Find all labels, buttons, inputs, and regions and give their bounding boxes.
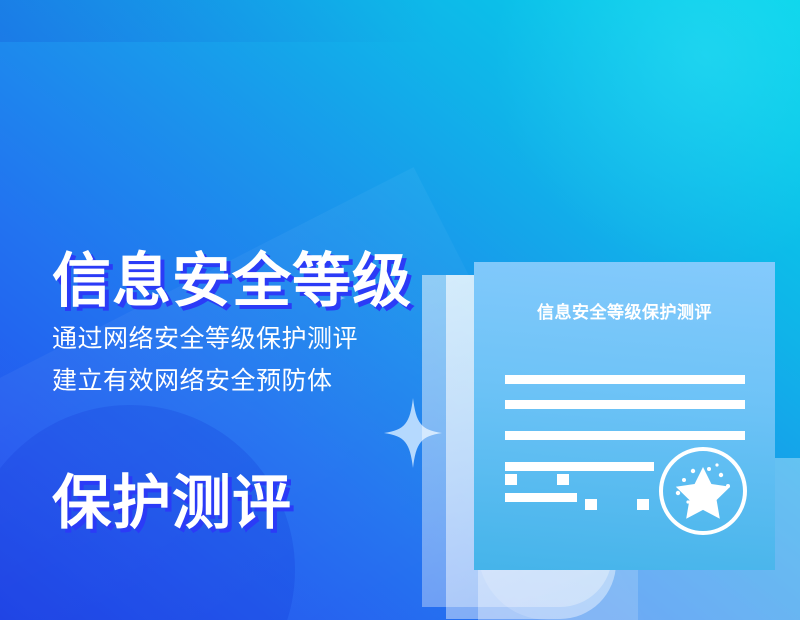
star-seal-icon [657,445,749,537]
certificate-dot [557,474,569,485]
certificate-line-2 [505,400,745,409]
certificate-title: 信息安全等级保护测评 [474,298,775,323]
certificate-dot [637,499,649,510]
certificate-line-4 [505,462,654,471]
right-edge-strip [776,0,800,620]
certificate-line-1 [505,375,745,384]
certificate-illustration: 信息安全等级保护测评 [418,258,788,620]
certificate-dot [585,499,597,510]
promo-banner: 信息安全等级 保护测评 通过网络安全等级保护测评 建立有效网络安全预防体 信息安… [0,0,800,620]
certificate-line-3 [505,431,745,440]
certificate-card: 信息安全等级保护测评 [474,262,775,570]
certificate-dot [505,474,517,485]
